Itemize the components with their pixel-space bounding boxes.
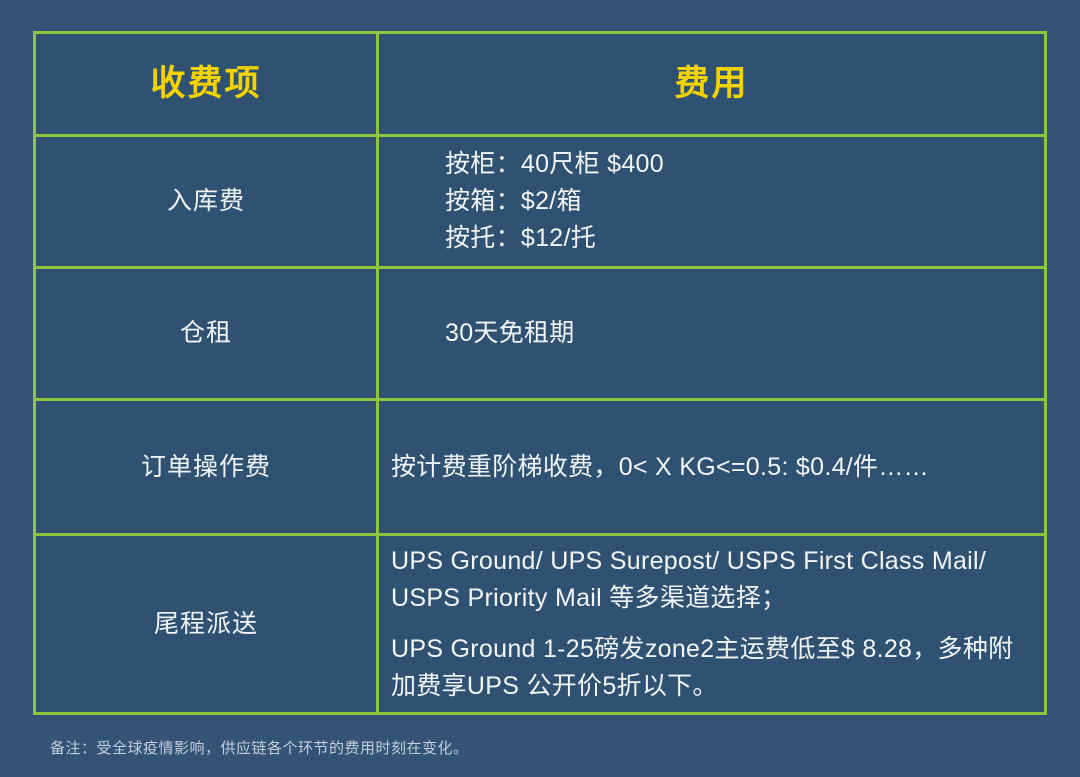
fee-line: 30天免租期 <box>445 315 1014 352</box>
table-header-row: 收费项 费用 <box>36 34 1044 137</box>
row-item-label-0: 入库费 <box>36 137 379 266</box>
table-row: 尾程派送 UPS Ground/ UPS Surepost/ USPS Firs… <box>36 536 1044 712</box>
fee-line: UPS Ground 1-25磅发zone2主运费低至$ 8.28，多种附加费享… <box>391 631 1014 705</box>
header-cell-item: 收费项 <box>36 34 379 134</box>
fee-line: 按柜：40尺柜 $400 <box>445 146 1014 183</box>
row-item-label-3: 尾程派送 <box>36 536 379 712</box>
row-item-text: 仓租 <box>180 317 232 350</box>
fee-line: 按计费重阶梯收费，0< X KG<=0.5: $0.4/件…… <box>391 449 1014 486</box>
row-item-text: 尾程派送 <box>154 608 258 641</box>
row-fee-cell-3: UPS Ground/ UPS Surepost/ USPS First Cla… <box>379 536 1044 712</box>
footer-note: 备注：受全球疫情影响，供应链各个环节的费用时刻在变化。 <box>50 738 469 759</box>
row-fee-cell-0: 按柜：40尺柜 $400 按箱：$2/箱 按托：$12/托 <box>379 137 1044 266</box>
table-row: 仓租 30天免租期 <box>36 269 1044 401</box>
header-label-item: 收费项 <box>150 63 261 105</box>
header-label-fee: 费用 <box>674 63 748 105</box>
pricing-table: 收费项 费用 入库费 按柜：40尺柜 $400 按箱：$2/箱 按托：$12/托… <box>33 31 1047 715</box>
fee-line: 按托：$12/托 <box>445 220 1014 257</box>
table-row: 订单操作费 按计费重阶梯收费，0< X KG<=0.5: $0.4/件…… <box>36 401 1044 536</box>
row-item-label-2: 订单操作费 <box>36 401 379 533</box>
row-item-text: 订单操作费 <box>141 451 271 484</box>
fee-line: UPS Ground/ UPS Surepost/ USPS First Cla… <box>391 543 1014 617</box>
header-cell-fee: 费用 <box>379 34 1044 134</box>
row-item-text: 入库费 <box>167 185 245 218</box>
row-fee-cell-2: 按计费重阶梯收费，0< X KG<=0.5: $0.4/件…… <box>379 401 1044 533</box>
row-fee-cell-1: 30天免租期 <box>379 269 1044 398</box>
table-row: 入库费 按柜：40尺柜 $400 按箱：$2/箱 按托：$12/托 <box>36 137 1044 269</box>
fee-line: 按箱：$2/箱 <box>445 183 1014 220</box>
row-item-label-1: 仓租 <box>36 269 379 398</box>
